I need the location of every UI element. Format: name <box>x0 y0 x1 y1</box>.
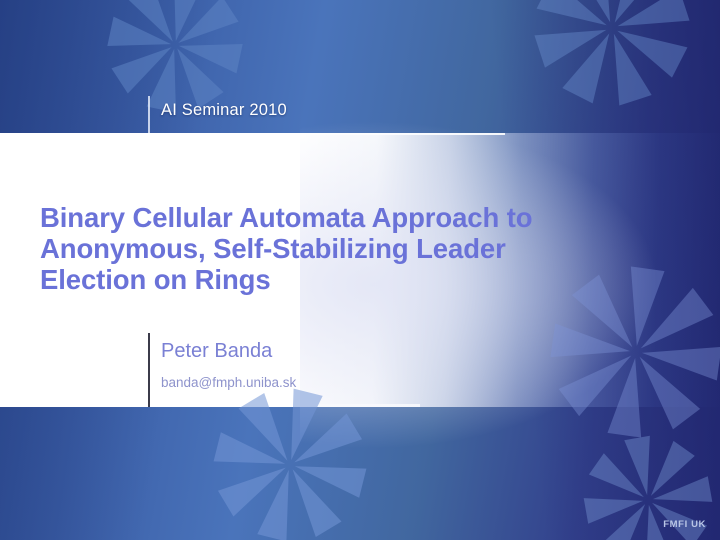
title-line-2: Anonymous, Self-Stabilizing Leader <box>40 233 640 264</box>
author-accent-rule <box>148 333 150 407</box>
page-title: Binary Cellular Automata Approach to Ano… <box>40 202 640 295</box>
seminar-label: AI Seminar 2010 <box>161 101 287 120</box>
header-accent-rule <box>148 96 150 133</box>
presentation-slide: AI Seminar 2010 Binary Cellular Automata… <box>0 0 720 540</box>
author-name: Peter Banda <box>161 340 272 363</box>
institution-footer: FMFI UK <box>663 519 706 530</box>
title-line-3: Election on Rings <box>40 264 640 295</box>
title-line-1: Binary Cellular Automata Approach to <box>40 202 640 233</box>
author-email[interactable]: banda@fmph.uniba.sk <box>161 375 296 390</box>
